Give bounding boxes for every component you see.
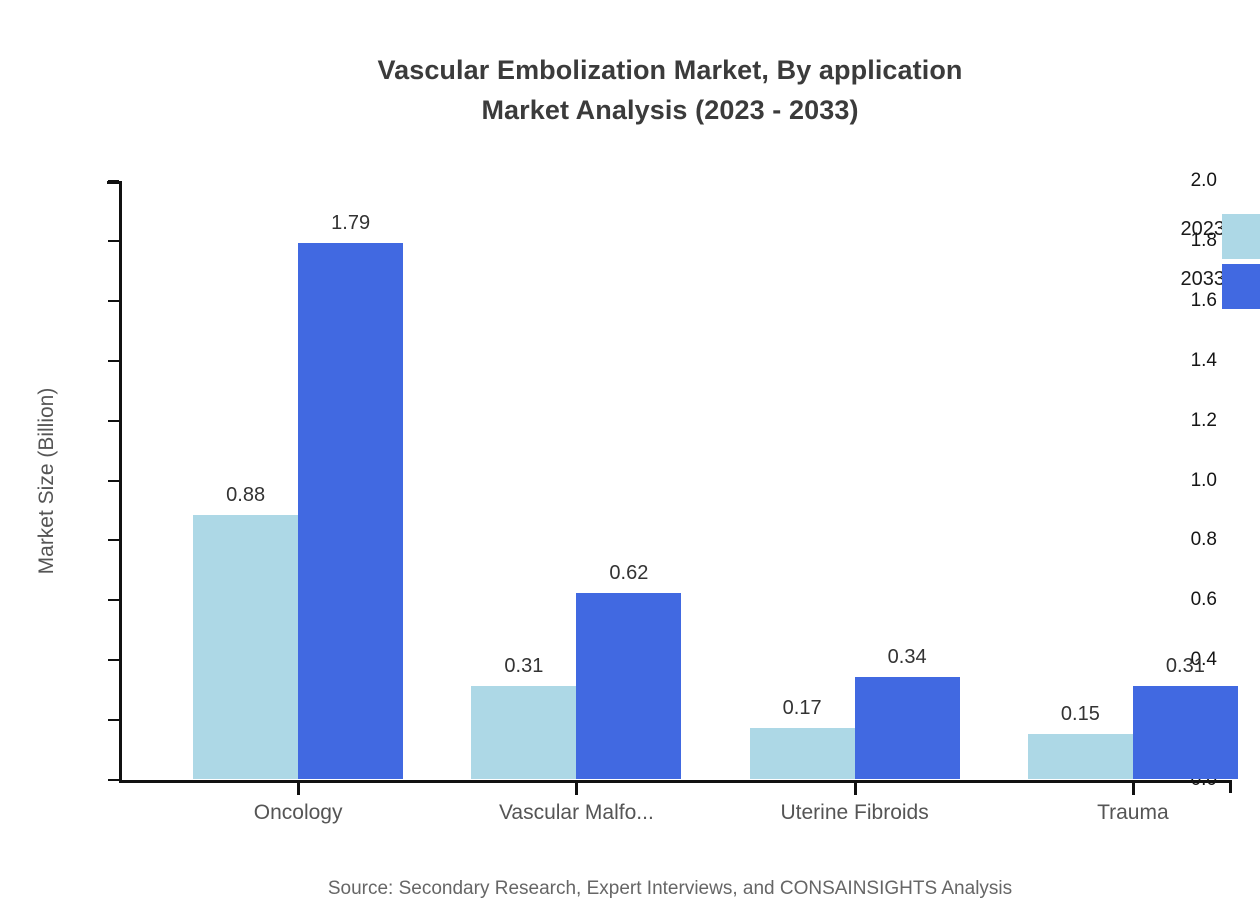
x-axis-line [119,780,1232,783]
bar-2033-trauma[interactable] [1133,686,1238,779]
bar-value-label-2023-vascularmalfo: 0.31 [504,655,543,678]
bar-2023-oncology[interactable] [193,515,298,779]
y-axis-title: Market Size (Billion) [35,388,59,575]
source-note: Source: Secondary Research, Expert Inter… [0,878,1260,900]
y-tick-2.0 [108,180,119,182]
y-tick-label-1.2: 1.2 [1191,410,1217,432]
bar-2033-uterinefibroids[interactable] [855,677,960,779]
y-tick-label-1.0: 1.0 [1191,470,1217,492]
chart-title-line-1: Vascular Embolization Market, By applica… [0,50,1260,90]
bar-2033-vascularmalfo[interactable] [576,593,681,779]
x-axis-label-vascularmalfo: Vascular Malfo... [499,801,654,825]
legend-swatch-2033 [1222,264,1260,309]
bar-2023-uterinefibroids[interactable] [750,728,855,779]
legend-label-2033: 2033 [1181,268,1226,291]
bar-2033-oncology[interactable] [298,243,403,779]
plot-area: Market Size (Billion) 0.00.20.40.60.81.0… [119,181,1232,782]
legend-label-2023: 2023 [1181,218,1226,241]
bar-value-label-2033-uterinefibroids: 0.34 [888,646,927,669]
y-tick-label-2.0: 2.0 [1191,170,1217,192]
x-tick-uterinefibroids [854,783,857,795]
chart-title-line-2: Market Analysis (2023 - 2033) [0,90,1260,130]
y-tick-0.8 [108,539,119,541]
x-axis-right-cap [1229,780,1232,793]
legend-swatch-2023 [1222,214,1260,259]
y-tick-label-0.8: 0.8 [1191,529,1217,551]
legend-item-2023[interactable]: 2023 [1135,218,1260,268]
y-tick-0.0 [108,779,119,781]
bar-2023-vascularmalfo[interactable] [471,686,576,779]
y-tick-0.6 [108,599,119,601]
x-axis-label-oncology: Oncology [254,801,343,825]
y-axis-line [119,181,122,783]
y-tick-1.6 [108,300,119,302]
bar-value-label-2033-trauma: 0.31 [1166,655,1205,678]
x-tick-trauma [1132,783,1135,795]
x-tick-vascularmalfo [575,783,578,795]
y-tick-0.2 [108,719,119,721]
y-tick-1.8 [108,240,119,242]
y-tick-1.2 [108,420,119,422]
y-tick-1.0 [108,480,119,482]
legend-item-2033[interactable]: 2033 [1135,268,1260,318]
x-axis-label-uterinefibroids: Uterine Fibroids [781,801,929,825]
bar-value-label-2023-oncology: 0.88 [226,484,265,507]
x-tick-oncology [297,783,300,795]
y-tick-1.4 [108,360,119,362]
y-tick-label-0.6: 0.6 [1191,589,1217,611]
bar-value-label-2033-oncology: 1.79 [331,212,370,235]
y-tick-0.4 [108,659,119,661]
bar-value-label-2023-trauma: 0.15 [1061,703,1100,726]
bar-2023-trauma[interactable] [1028,734,1133,779]
chart-legend: 2023 2033 [1135,218,1260,318]
chart-title: Vascular Embolization Market, By applica… [0,50,1260,130]
x-axis-label-trauma: Trauma [1097,801,1169,825]
bar-value-label-2033-vascularmalfo: 0.62 [609,562,648,585]
bar-value-label-2023-uterinefibroids: 0.17 [783,697,822,720]
y-tick-label-1.4: 1.4 [1191,350,1217,372]
